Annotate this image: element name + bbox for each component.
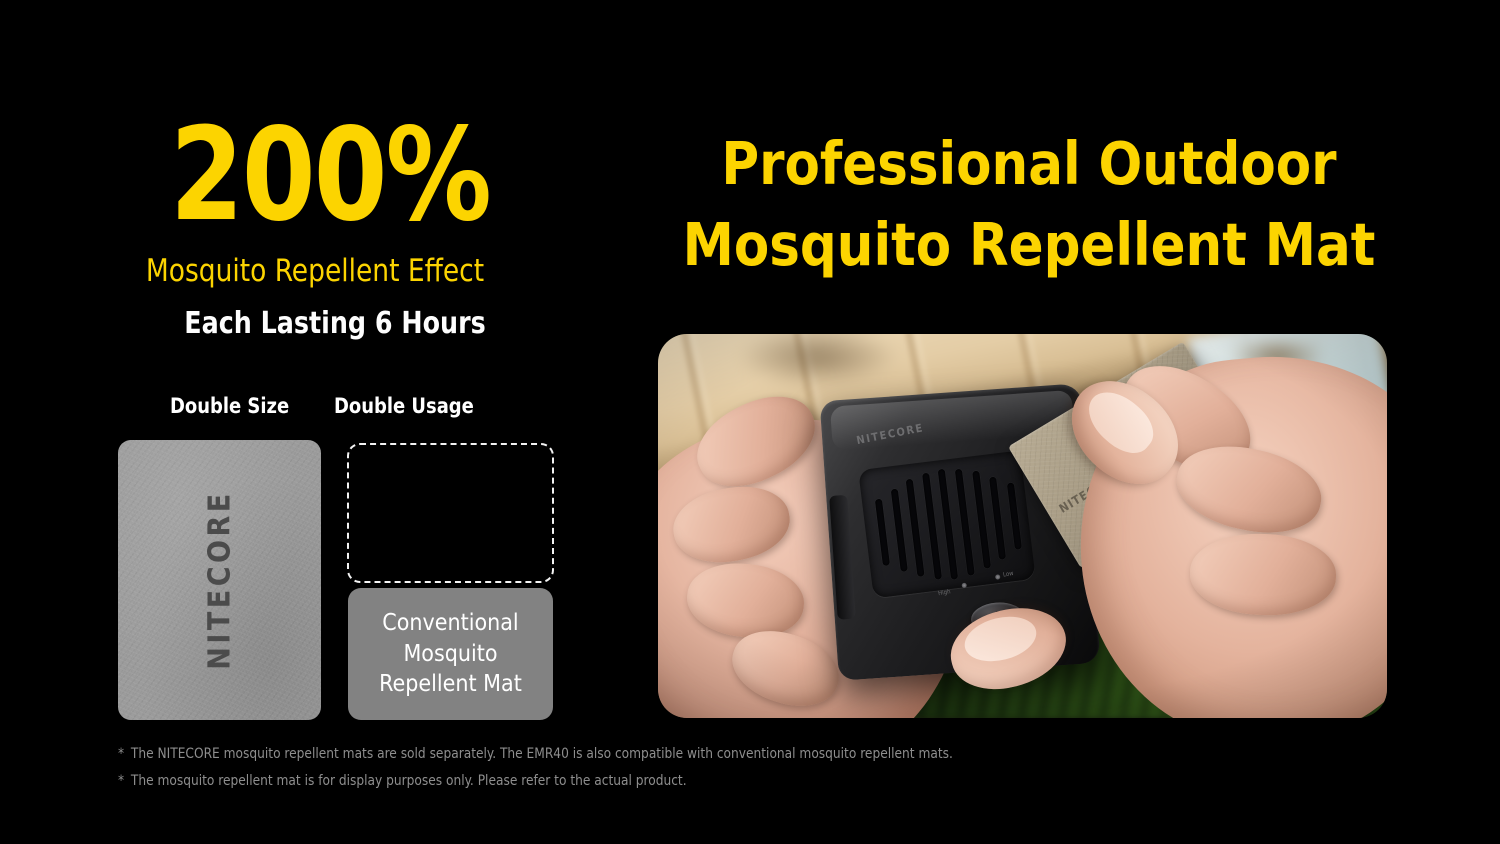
vent-slat bbox=[955, 468, 975, 576]
indicator-led-high bbox=[961, 582, 966, 587]
duration-subtitle: Each Lasting 6 Hours bbox=[20, 306, 650, 341]
footnote-item: *The mosquito repellent mat is for displ… bbox=[118, 768, 953, 795]
led-label-high: High bbox=[938, 588, 951, 597]
page-title: Professional Outdoor Mosquito Repellent … bbox=[675, 124, 1383, 286]
conventional-mat-line-1: Conventional bbox=[379, 608, 522, 639]
product-photo: NITECORE High Low NITECORE bbox=[658, 334, 1387, 718]
nitecore-mat-swatch: NITECORE bbox=[118, 440, 321, 720]
vent-slat bbox=[989, 476, 1006, 560]
vent-slat bbox=[906, 479, 925, 577]
effect-subtitle: Mosquito Repellent Effect bbox=[16, 253, 615, 289]
conventional-mat-line-3: Repellent Mat bbox=[379, 669, 522, 700]
percent-value: 200% bbox=[26, 112, 633, 240]
vent-slat bbox=[972, 471, 991, 569]
footnote-marker: * bbox=[118, 773, 124, 789]
promo-slide: 200% Mosquito Repellent Effect Each Last… bbox=[0, 0, 1500, 844]
vent-slat bbox=[1007, 482, 1022, 549]
double-usage-label: Double Usage bbox=[334, 394, 474, 418]
conventional-mat-swatch: Conventional Mosquito Repellent Mat bbox=[348, 588, 553, 720]
mat-size-difference-outline bbox=[347, 443, 554, 583]
table-shadow bbox=[738, 334, 898, 388]
vent-slat bbox=[875, 498, 890, 565]
footnote-text: The NITECORE mosquito repellent mats are… bbox=[131, 746, 953, 762]
vent-slat bbox=[922, 472, 942, 580]
footnote-list: *The NITECORE mosquito repellent mats ar… bbox=[118, 741, 979, 796]
double-size-label: Double Size bbox=[170, 394, 289, 418]
percent-stat: 200% bbox=[0, 112, 660, 240]
headline-line-2: Mosquito Repellent Mat bbox=[675, 205, 1383, 286]
conventional-mat-label: Conventional Mosquito Repellent Mat bbox=[379, 608, 522, 700]
footnote-item: *The NITECORE mosquito repellent mats ar… bbox=[118, 741, 953, 768]
device-side-panel bbox=[829, 495, 856, 619]
vent-slat bbox=[938, 469, 958, 580]
footnote-marker: * bbox=[118, 746, 124, 762]
indicator-led-low bbox=[995, 574, 1000, 579]
headline-line-1: Professional Outdoor bbox=[675, 124, 1383, 205]
footnote-text: The mosquito repellent mat is for displa… bbox=[131, 773, 687, 789]
nitecore-mat-label: NITECORE bbox=[202, 490, 237, 669]
conventional-mat-line-2: Mosquito bbox=[379, 639, 522, 670]
vent-slat bbox=[890, 488, 907, 572]
